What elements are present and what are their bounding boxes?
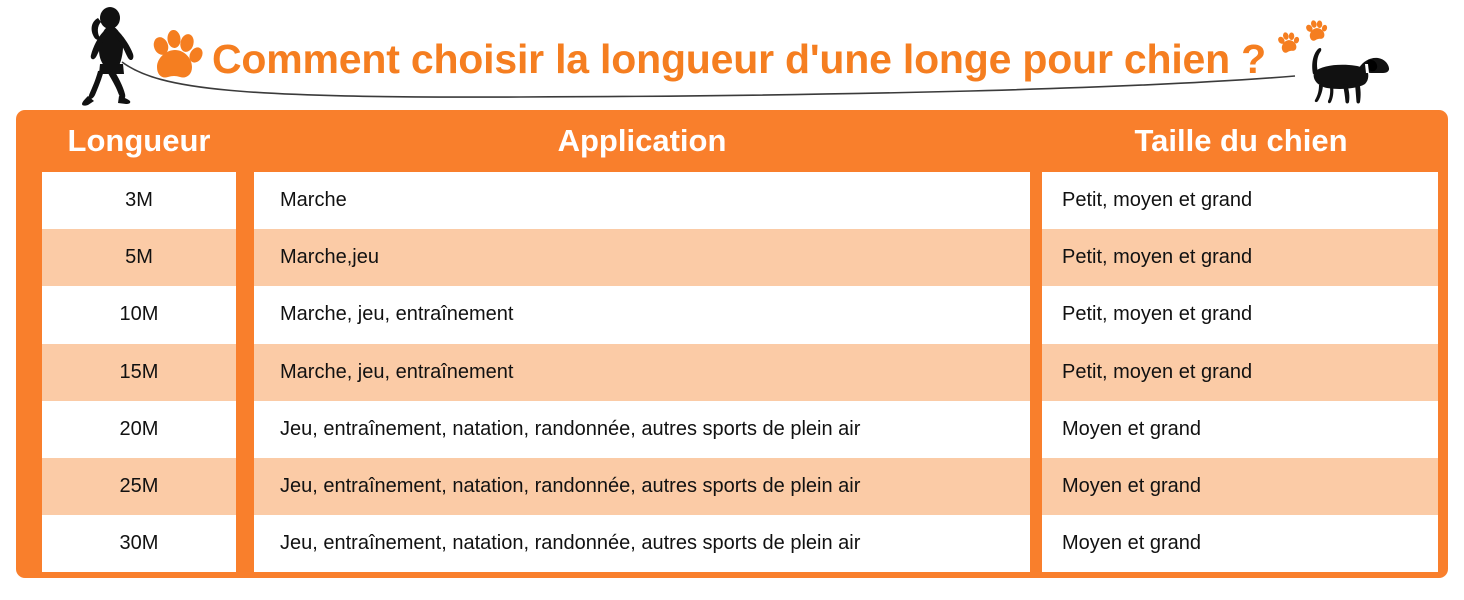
table-row: 15M Marche, jeu, entraînement Petit, moy…	[42, 344, 1438, 401]
column-header-taille: Taille du chien	[1042, 110, 1440, 172]
cell-application: Jeu, entraînement, natation, randonnée, …	[254, 401, 1030, 458]
cell-longueur: 20M	[42, 401, 236, 458]
cell-application: Marche, jeu, entraînement	[254, 344, 1030, 401]
page-title: Comment choisir la longueur d'une longe …	[212, 30, 1272, 88]
table-row: 5M Marche,jeu Petit, moyen et grand	[42, 229, 1438, 286]
cell-taille: Petit, moyen et grand	[1042, 344, 1438, 401]
cell-taille: Moyen et grand	[1042, 458, 1438, 515]
cell-longueur: 3M	[42, 172, 236, 229]
dog-icon	[1289, 44, 1391, 106]
comparison-table: Longueur Application Taille du chien 3M …	[16, 110, 1448, 578]
cell-taille: Moyen et grand	[1042, 401, 1438, 458]
table-row: 3M Marche Petit, moyen et grand	[42, 172, 1438, 229]
cell-longueur: 10M	[42, 286, 236, 343]
cell-taille: Petit, moyen et grand	[1042, 286, 1438, 343]
table-header-row: Longueur Application Taille du chien	[16, 110, 1448, 172]
column-header-longueur: Longueur	[42, 110, 236, 172]
column-header-application: Application	[254, 110, 1030, 172]
table-body: 3M Marche Petit, moyen et grand 5M March…	[42, 172, 1438, 566]
infographic-page: Comment choisir la longueur d'une longe …	[0, 0, 1464, 600]
cell-taille: Petit, moyen et grand	[1042, 172, 1438, 229]
cell-longueur: 30M	[42, 515, 236, 572]
cell-longueur: 15M	[42, 344, 236, 401]
cell-application: Jeu, entraînement, natation, randonnée, …	[254, 458, 1030, 515]
header-banner: Comment choisir la longueur d'une longe …	[0, 0, 1464, 110]
cell-taille: Petit, moyen et grand	[1042, 229, 1438, 286]
cell-application: Marche,jeu	[254, 229, 1030, 286]
cell-application: Jeu, entraînement, natation, randonnée, …	[254, 515, 1030, 572]
table-row: 30M Jeu, entraînement, natation, randonn…	[42, 515, 1438, 572]
cell-taille: Moyen et grand	[1042, 515, 1438, 572]
table-row: 10M Marche, jeu, entraînement Petit, moy…	[42, 286, 1438, 343]
paw-print-icon	[148, 27, 204, 83]
cell-application: Marche	[254, 172, 1030, 229]
table-row: 20M Jeu, entraînement, natation, randonn…	[42, 401, 1438, 458]
cell-application: Marche, jeu, entraînement	[254, 286, 1030, 343]
cell-longueur: 5M	[42, 229, 236, 286]
table-row: 25M Jeu, entraînement, natation, randonn…	[42, 458, 1438, 515]
cell-longueur: 25M	[42, 458, 236, 515]
